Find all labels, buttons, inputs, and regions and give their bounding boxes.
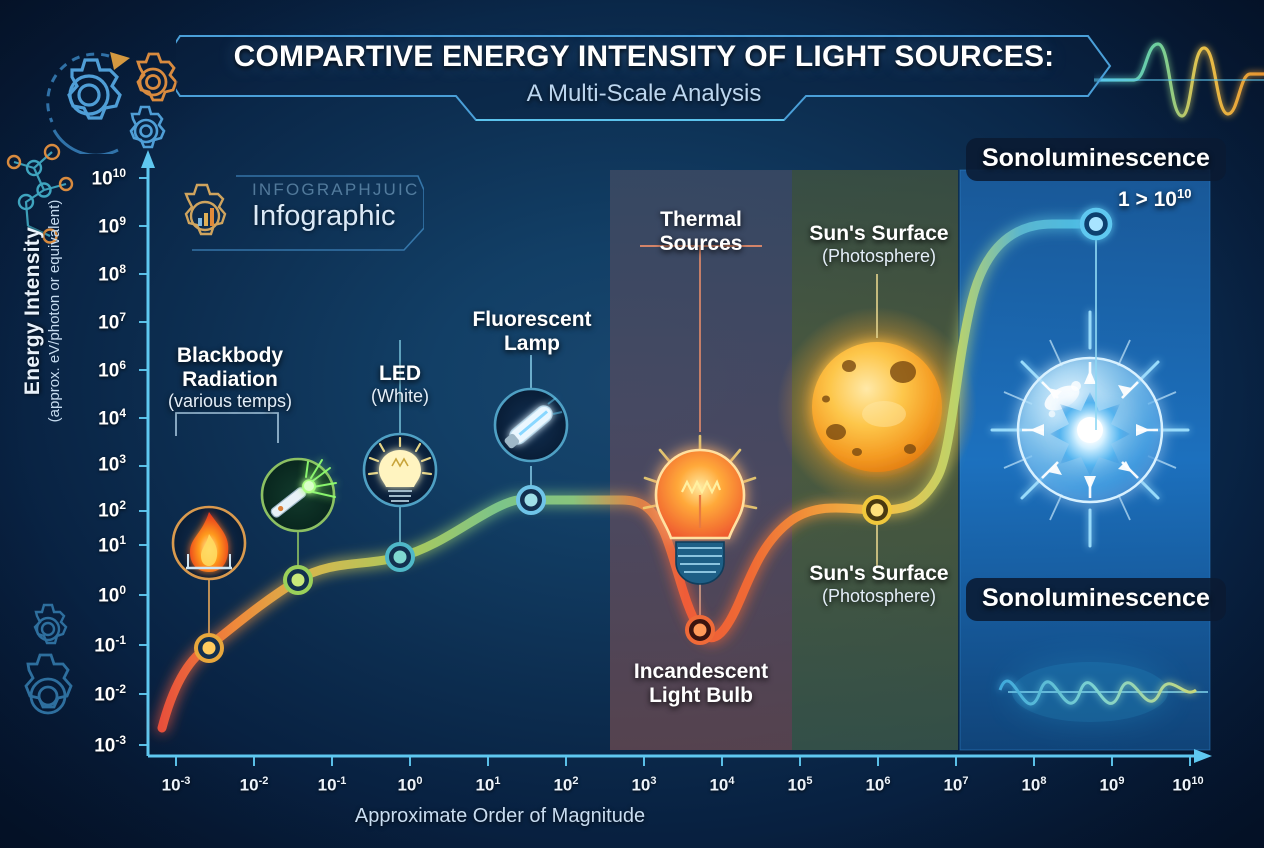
callout-blackbody-line2: Radiation [140,368,320,392]
data-value-exponent: 10 [1177,186,1191,201]
axis-x [148,749,1212,766]
y-tick-label: 100 [62,583,126,607]
callout-incandescent: Incandescent Light Bulb [618,660,784,707]
x-tick-label: 100 [380,775,440,796]
marker-blackbody-green [285,567,311,593]
callout-sun-bottom-sub: (Photosphere) [794,586,964,606]
callout-incandescent-line2: Light Bulb [618,684,784,708]
y-tick-label: 103 [62,452,126,476]
x-tick-label: 102 [536,775,596,796]
y-tick-label: 108 [62,262,126,286]
callout-sun-bottom: Sun's Surface (Photosphere) [794,562,964,606]
led-bulb-icon [364,434,436,506]
x-tick-label: 10-1 [302,775,362,796]
callout-sun-top-sub: (Photosphere) [794,246,964,266]
x-tick-label: 108 [1004,775,1064,796]
x-tick-label: 105 [770,775,830,796]
x-tick-label: 10-3 [146,775,206,796]
y-tick-label: 10-2 [62,682,126,706]
marker-blackbody-low [196,635,222,661]
callout-incandescent-line1: Incandescent [618,660,784,684]
data-value-label: 1 > 1010 [1118,186,1191,212]
y-tick-label: 106 [62,358,126,382]
infographic-canvas: COMPARTIVE ENERGY INTENSITY OF LIGHT SOU… [0,0,1264,848]
x-tick-label: 1010 [1158,775,1218,796]
callout-sun-top: Sun's Surface (Photosphere) [794,222,964,266]
y-axis-title-main: Energy Intensity [21,181,45,441]
fluorescent-tube-icon [495,389,567,461]
callout-blackbody-sub: (various temps) [140,391,320,411]
x-tick-label: 107 [926,775,986,796]
y-tick-label: 102 [62,498,126,522]
y-axis-title-sub: (approx. eV/photon or equivalent) [46,181,63,441]
x-tick-label: 106 [848,775,908,796]
axis-y [139,150,155,756]
callout-fluorescent-line1: Fluorescent [456,308,608,332]
callout-blackbody-line1: Blackbody [140,344,320,368]
callout-led: LED (White) [340,362,460,406]
y-tick-label: 109 [62,214,126,238]
y-tick-label: 104 [62,406,126,430]
y-tick-label: 107 [62,310,126,334]
flame-icon [173,507,245,579]
callout-sun-top-head: Sun's Surface [794,222,964,246]
marker-fluorescent [518,487,544,513]
y-tick-label: 1010 [62,166,126,190]
callout-fluorescent: Fluorescent Lamp [456,308,608,355]
marker-sonoluminescence [1082,210,1110,238]
laser-pointer-icon [262,459,336,531]
x-tick-label: 103 [614,775,674,796]
y-axis-title: Energy Intensity (approx. eV/photon or e… [21,181,63,441]
band-label-thermal-line2: Sources [626,232,776,256]
callout-fluorescent-line2: Lamp [456,332,608,356]
marker-led [387,544,413,570]
x-tick-label: 104 [692,775,752,796]
y-tick-label: 101 [62,533,126,557]
y-tick-label: 10-3 [62,733,126,757]
energy-intensity-chart [0,0,1264,848]
chip-sonoluminescence-top: Sonoluminescence [966,138,1226,181]
callout-blackbody: Blackbody Radiation (various temps) [140,344,320,411]
callout-led-sub: (White) [340,386,460,406]
marker-incandescent [687,617,713,643]
x-axis-title: Approximate Order of Magnitude [0,805,1000,828]
x-tick-label: 10-2 [224,775,284,796]
callout-sun-bottom-head: Sun's Surface [794,562,964,586]
x-tick-label: 109 [1082,775,1142,796]
band-label-thermal: Thermal Sources [626,208,776,255]
y-tick-label: 10-1 [62,633,126,657]
marker-sun [864,497,890,523]
callout-led-head: LED [340,362,460,386]
data-value-text: 1 > 10 [1118,188,1177,211]
band-label-thermal-line1: Thermal [626,208,776,232]
x-tick-label: 101 [458,775,518,796]
chip-sonoluminescence-bottom: Sonoluminescence [966,578,1226,621]
